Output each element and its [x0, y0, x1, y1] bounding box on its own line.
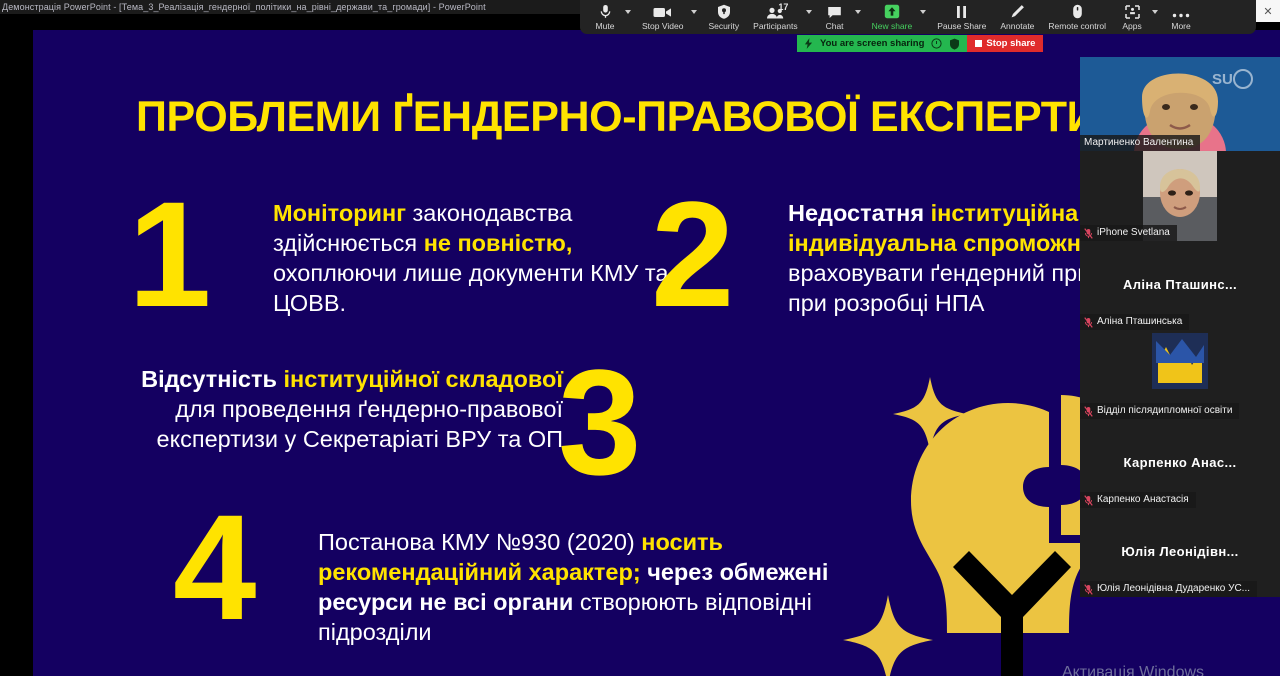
toolbar-button-mute[interactable]: Mute	[586, 0, 624, 34]
participant-tile[interactable]: SU Мартиненко Валентина	[1080, 57, 1280, 151]
chevron-down-icon[interactable]	[690, 0, 701, 34]
stop-square-icon	[975, 40, 982, 47]
meeting-info-icon[interactable]	[931, 38, 942, 49]
participant-name-label: Карпенко Анастасія	[1097, 493, 1189, 507]
toolbar-button-stop-video[interactable]: Stop Video	[635, 0, 690, 34]
participant-name-label: Юлія Леонідівна Дударенко УС...	[1097, 582, 1250, 596]
chevron-down-icon[interactable]	[854, 0, 865, 34]
participant-name-chip: Юлія Леонідівна Дударенко УС...	[1080, 581, 1257, 597]
muted-microphone-icon	[1084, 317, 1093, 328]
participant-tile[interactable]: Карпенко Анас...Карпенко Анастасія	[1080, 419, 1280, 508]
toolbar-label: Annotate	[1000, 21, 1034, 31]
stop-share-label: Stop share	[986, 38, 1035, 49]
text-segment: Постанова КМУ №930 (2020)	[318, 529, 641, 555]
windows-activation-watermark: Активація Windows Перейдіть до розділу "…	[968, 664, 1280, 676]
chevron-down-icon[interactable]	[1151, 0, 1162, 34]
encryption-shield-icon[interactable]	[949, 38, 960, 50]
sharing-indicator: You are screen sharing	[797, 35, 967, 52]
toolbar-label: Mute	[596, 21, 615, 31]
sharing-bolt-icon	[804, 38, 813, 49]
muted-microphone-icon	[1084, 406, 1093, 417]
participant-name-label: Мартиненко Валентина	[1084, 136, 1193, 150]
participant-tile[interactable]: Відділ післядипломної освіти	[1080, 330, 1280, 419]
point-number-4: 4	[173, 506, 256, 629]
toolbar-label: More	[1171, 21, 1190, 31]
participant-name-label: Аліна Пташинська	[1097, 315, 1182, 329]
participant-display-name: Юлія Леонідівн...	[1080, 544, 1280, 559]
participant-tile[interactable]: iPhone Svetlana	[1080, 151, 1280, 241]
toolbar-label: Apps	[1122, 21, 1141, 31]
screen-share-status-bar: You are screen sharing Stop share	[797, 35, 1043, 52]
participant-display-name: Аліна Пташинс...	[1080, 277, 1280, 292]
microphone-icon	[598, 4, 613, 19]
point-number-1: 1	[128, 193, 211, 316]
apps-icon	[1125, 4, 1140, 19]
text-segment: Недостатня	[788, 200, 931, 226]
toolbar-button-annotate[interactable]: Annotate	[993, 0, 1041, 34]
point-text-4: Постанова КМУ №930 (2020) носить рекомен…	[318, 528, 838, 647]
slide-title: ПРОБЛЕМИ ҐЕНДЕРНО-ПРАВОВОЇ ЕКСПЕРТИЗИ	[136, 96, 1154, 139]
toolbar-label: Stop Video	[642, 21, 683, 31]
zoom-meeting-toolbar[interactable]: MuteStop VideoSecurity17ParticipantsChat…	[580, 0, 1256, 34]
chevron-down-icon[interactable]	[805, 0, 816, 34]
toolbar-button-participants[interactable]: 17Participants	[746, 0, 804, 34]
text-segment: не повністю,	[424, 230, 573, 256]
participant-name-label: iPhone Svetlana	[1097, 226, 1170, 240]
stop-share-button[interactable]: Stop share	[967, 35, 1043, 52]
mouse-icon	[1072, 4, 1083, 19]
screen-root: Демонстрація PowerPoint - [Тема_3_Реаліз…	[0, 0, 1280, 676]
participant-tile[interactable]: Юлія Леонідівн...Юлія Леонідівна Дударен…	[1080, 508, 1280, 597]
toolbar-label: Remote control	[1048, 21, 1106, 31]
activation-title: Активація Windows	[968, 664, 1280, 676]
toolbar-label: Participants	[753, 21, 797, 31]
toolbar-label: Pause Share	[937, 21, 986, 31]
toolbar-button-more[interactable]: More	[1162, 0, 1200, 34]
toolbar-close-icon[interactable]: ✕	[1256, 0, 1280, 22]
toolbar-button-pause-share[interactable]: Pause Share	[930, 0, 993, 34]
text-segment: інституційної складової	[283, 366, 563, 392]
chevron-down-icon[interactable]	[919, 0, 930, 34]
shield-icon	[717, 4, 731, 19]
participant-name-chip: Відділ післядипломної освіти	[1080, 403, 1239, 419]
ellipsis-icon	[1172, 4, 1190, 19]
toolbar-button-security[interactable]: Security	[701, 0, 746, 34]
participants-count-badge: 17	[778, 2, 788, 12]
toolbar-button-remote-control[interactable]: Remote control	[1041, 0, 1113, 34]
text-segment: Моніторинг	[273, 200, 413, 226]
participant-name-chip: Аліна Пташинська	[1080, 314, 1189, 330]
muted-microphone-icon	[1084, 584, 1093, 595]
toolbar-button-new-share[interactable]: New share	[865, 0, 920, 34]
video-camera-icon	[653, 4, 672, 19]
muted-microphone-icon	[1084, 228, 1093, 239]
toolbar-label: Security	[708, 21, 739, 31]
point-text-1: Моніторинг законодавства здійснюється не…	[273, 199, 693, 318]
pencil-icon	[1010, 4, 1025, 19]
toolbar-button-apps[interactable]: Apps	[1113, 0, 1151, 34]
toolbar-label: New share	[872, 21, 913, 31]
share-up-arrow-icon	[884, 4, 900, 19]
participant-tile[interactable]: Аліна Пташинс...Аліна Пташинська	[1080, 241, 1280, 330]
participant-name-label: Відділ післядипломної освіти	[1097, 404, 1232, 418]
participant-name-chip: Карпенко Анастасія	[1080, 492, 1196, 508]
text-segment: Відсутність	[141, 366, 283, 392]
participant-name-chip: iPhone Svetlana	[1080, 225, 1177, 241]
muted-microphone-icon	[1084, 495, 1093, 506]
pause-icon	[955, 4, 968, 19]
point-number-2: 2	[651, 193, 734, 316]
participant-filmstrip[interactable]: SU Мартиненко Валентина iPhone SvetlanaА…	[1080, 57, 1280, 589]
chevron-down-icon[interactable]	[624, 0, 635, 34]
sharing-label: You are screen sharing	[820, 38, 924, 49]
svg-text:SU: SU	[1212, 71, 1233, 88]
point-text-3: Відсутність інституційної складової для …	[138, 365, 563, 455]
participant-display-name: Карпенко Анас...	[1080, 455, 1280, 470]
participant-name-chip: Мартиненко Валентина	[1080, 135, 1200, 151]
toolbar-label: Chat	[826, 21, 844, 31]
text-segment: для проведення ґендерно-правової експерт…	[157, 396, 563, 452]
chat-bubble-icon	[827, 4, 842, 19]
text-segment: охоплюючи лише документи КМУ та ЦОВВ.	[273, 260, 668, 316]
toolbar-button-chat[interactable]: Chat	[816, 0, 854, 34]
point-number-3: 3	[558, 361, 641, 484]
